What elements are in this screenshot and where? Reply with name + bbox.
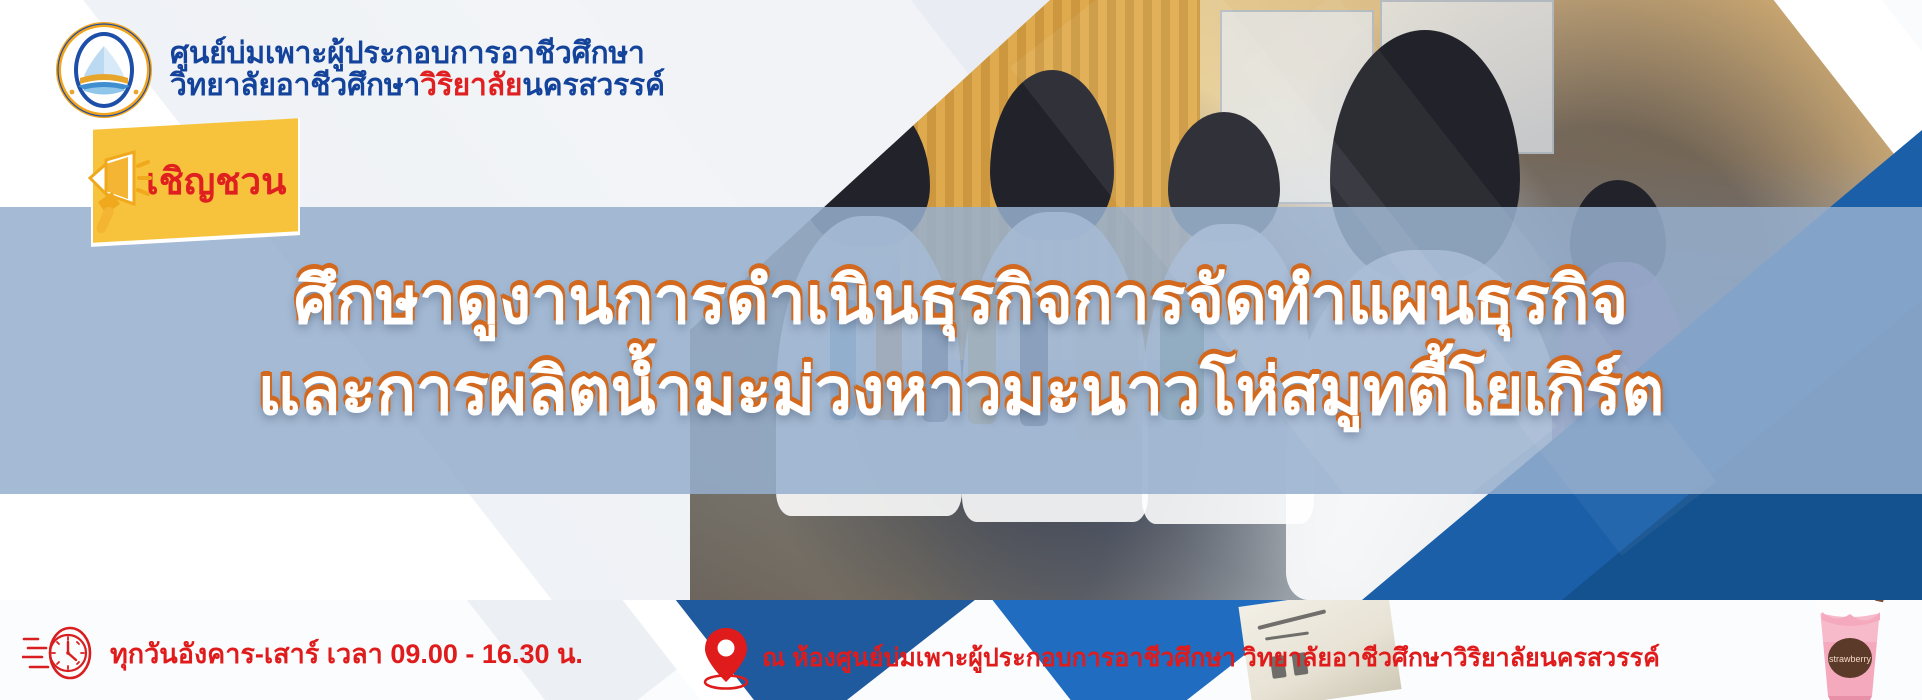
schedule-text: ทุกวันอังคาร-เสาร์ เวลา 09.00 - 16.30 น.	[110, 632, 583, 675]
header-line-2-highlight: วิริยาลัย	[420, 69, 522, 102]
headline: ศึกษาดูงานการดำเนินธุรกิจการจัดทำแผนธุรก…	[0, 255, 1922, 437]
location-info: ณ ห้องศูนย์บ่มเพาะผู้ประกอบการอาชีวศึกษา…	[700, 626, 1660, 690]
headline-line-1: ศึกษาดูงานการดำเนินธุรกิจการจัดทำแผนธุรก…	[0, 255, 1922, 346]
header-line-1: ศูนย์บ่มเพาะผู้ประกอบการอาชีวศึกษา	[170, 38, 665, 70]
header-line-2: วิทยาลัยอาชีวศึกษาวิริยาลัยนครสวรรค์	[170, 70, 665, 102]
headline-line-2: และการผลิตน้ำมะม่วงหาวมะนาวโห่สมูทตี้โยเ…	[0, 346, 1922, 437]
strawberry-smoothie-cup-icon: strawberry	[1792, 600, 1908, 700]
promotional-banner: ศูนย์บ่มเพาะผู้ประกอบการอาชีวศึกษา วิทยา…	[0, 0, 1922, 700]
clock-icon	[22, 626, 100, 680]
location-text: ณ ห้องศูนย์บ่มเพาะผู้ประกอบการอาชีวศึกษา…	[762, 638, 1660, 678]
schedule-info: ทุกวันอังคาร-เสาร์ เวลา 09.00 - 16.30 น.	[22, 626, 583, 680]
invite-badge-label: เชิญชวน	[146, 152, 286, 211]
college-seal-logo	[54, 20, 154, 120]
megaphone-icon	[76, 150, 154, 236]
header-line-2-part2: นครสวรรค์	[522, 69, 665, 102]
header-line-2-part1: วิทยาลัยอาชีวศึกษา	[170, 69, 420, 102]
header: ศูนย์บ่มเพาะผู้ประกอบการอาชีวศึกษา วิทยา…	[54, 20, 665, 120]
map-pin-icon	[700, 626, 752, 690]
smoothie-cup-label: strawberry	[1829, 654, 1872, 664]
footer: ทุกวันอังคาร-เสาร์ เวลา 09.00 - 16.30 น.…	[0, 600, 1922, 700]
header-text: ศูนย์บ่มเพาะผู้ประกอบการอาชีวศึกษา วิทยา…	[170, 38, 665, 103]
